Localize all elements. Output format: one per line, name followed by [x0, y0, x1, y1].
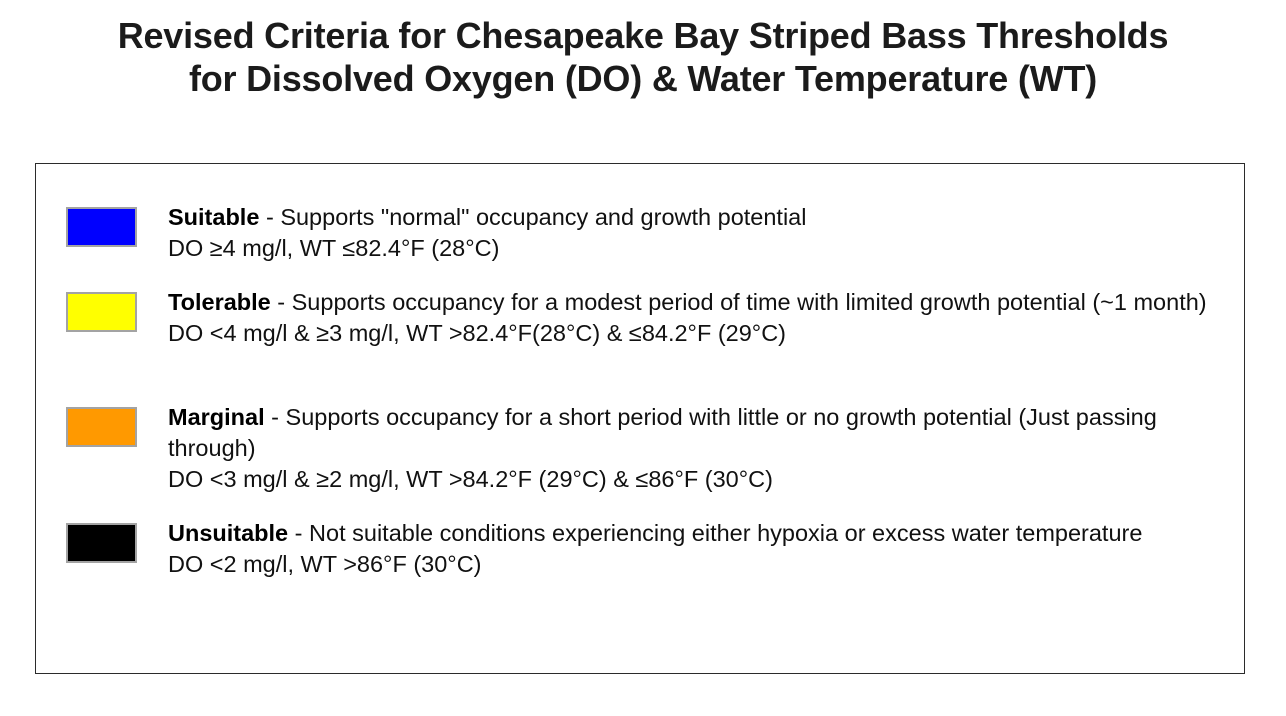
legend-entry-separator: - — [288, 520, 309, 546]
legend-entry-criteria: DO <2 mg/l, WT >86°F (30°C) — [168, 549, 1243, 580]
legend-entry-separator: - — [265, 404, 286, 430]
page-title: Revised Criteria for Chesapeake Bay Stri… — [0, 14, 1286, 100]
legend-entry-text: Marginal - Supports occupancy for a shor… — [168, 402, 1243, 494]
legend-entry-label: Marginal — [168, 404, 265, 430]
color-swatch-yellow — [66, 292, 137, 332]
legend-entry-text: Suitable - Supports "normal" occupancy a… — [168, 202, 1243, 264]
legend-entry-label: Tolerable — [168, 289, 271, 315]
color-swatch-orange — [66, 407, 137, 447]
legend-entry-text: Tolerable - Supports occupancy for a mod… — [168, 287, 1243, 349]
color-swatch-black — [66, 523, 137, 563]
legend-list: Suitable - Supports "normal" occupancy a… — [36, 164, 1244, 673]
page-title-line-2: for Dissolved Oxygen (DO) & Water Temper… — [0, 57, 1286, 100]
legend-entry-criteria: DO <3 mg/l & ≥2 mg/l, WT >84.2°F (29°C) … — [168, 464, 1243, 495]
legend-entry-text: Unsuitable - Not suitable conditions exp… — [168, 518, 1243, 580]
page-title-line-1: Revised Criteria for Chesapeake Bay Stri… — [0, 14, 1286, 57]
legend-entry-label: Suitable — [168, 204, 259, 230]
legend-entry-label: Unsuitable — [168, 520, 288, 546]
legend-entry-separator: - — [259, 204, 280, 230]
legend-entry-criteria: DO <4 mg/l & ≥3 mg/l, WT >82.4°F(28°C) &… — [168, 318, 1243, 349]
legend-entry-description: Supports occupancy for a modest period o… — [292, 289, 1207, 315]
legend-entry-description: Not suitable conditions experiencing eit… — [309, 520, 1142, 546]
legend-entry-separator: - — [271, 289, 292, 315]
color-swatch-blue — [66, 207, 137, 247]
legend-entry-description: Supports occupancy for a short period wi… — [168, 404, 1157, 461]
legend-entry-description: Supports "normal" occupancy and growth p… — [280, 204, 806, 230]
legend-frame: Suitable - Supports "normal" occupancy a… — [35, 163, 1245, 674]
legend-entry-criteria: DO ≥4 mg/l, WT ≤82.4°F (28°C) — [168, 233, 1243, 264]
